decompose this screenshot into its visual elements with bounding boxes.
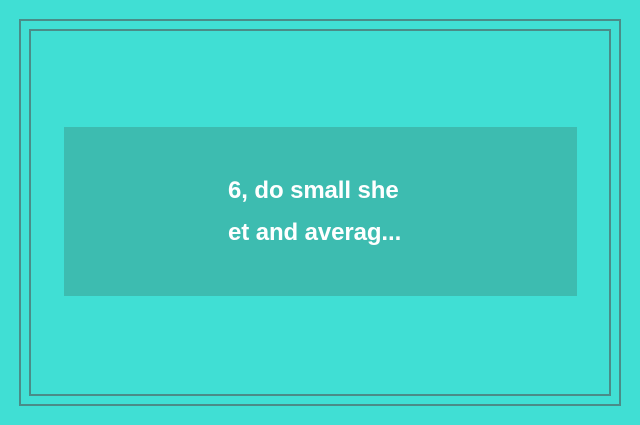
screenshot-canvas: 6, do small she et and averag...	[0, 0, 640, 425]
panel-text-line-2: et and averag...	[228, 212, 557, 254]
text-panel: 6, do small she et and averag...	[64, 127, 577, 296]
panel-text-line-1: 6, do small she	[228, 170, 557, 212]
